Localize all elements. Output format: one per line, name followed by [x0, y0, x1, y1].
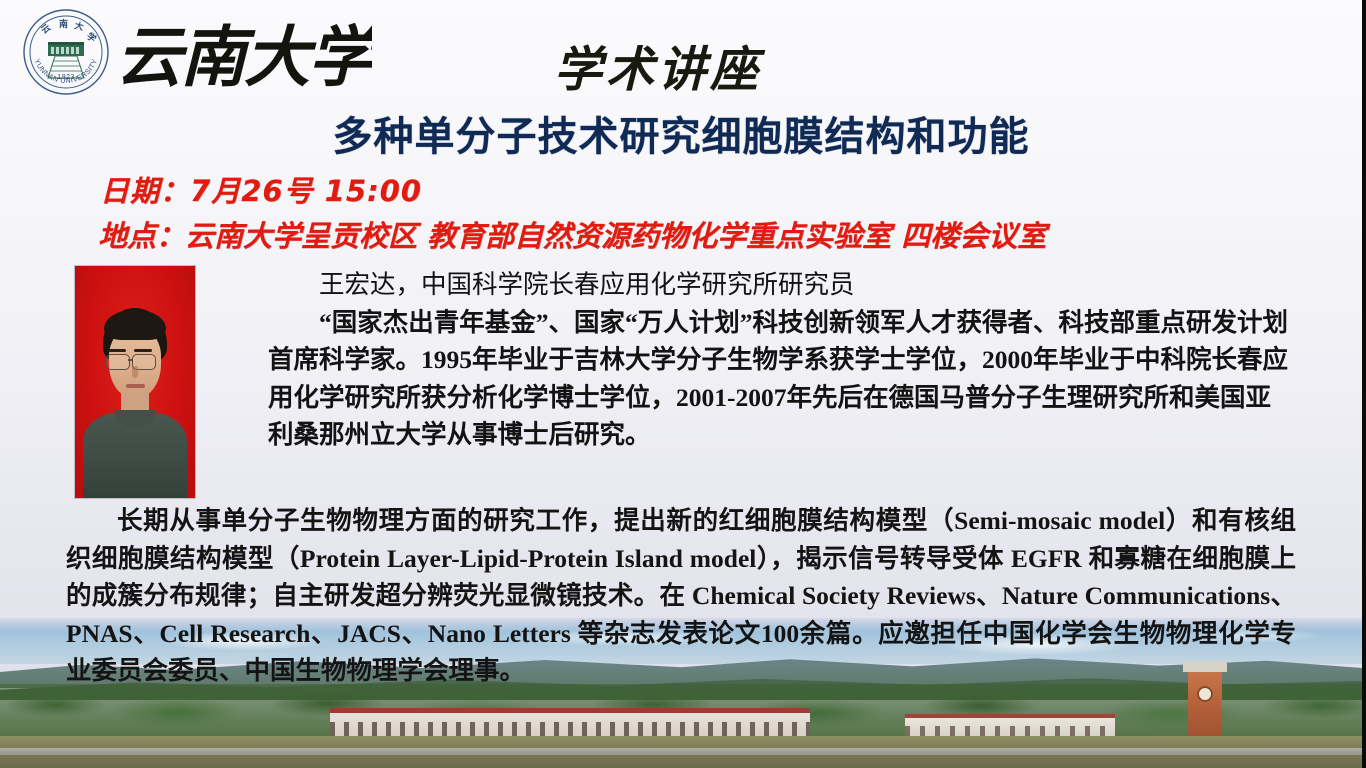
photo-nose	[132, 366, 138, 378]
photo-eyebrow-left	[108, 349, 126, 352]
event-place-value: 云南大学呈贡校区 教育部自然资源药物化学重点实验室 四楼会议室	[185, 219, 1046, 253]
page-title: 多种单分子技术研究细胞膜结构和功能	[0, 104, 1362, 162]
event-place-line: 地点：云南大学呈贡校区 教育部自然资源药物化学重点实验室 四楼会议室	[98, 213, 1046, 255]
university-name-calligraphy: 云南大学	[112, 6, 372, 102]
photo-glasses-left	[106, 354, 130, 370]
svg-text:云: 云	[39, 22, 52, 35]
svg-text:南: 南	[59, 18, 68, 29]
research-summary-text: 长期从事单分子生物物理方面的研究工作，提出新的红细胞膜结构模型（Semi-mos…	[66, 502, 1296, 690]
speaker-photo	[74, 265, 196, 499]
photo-fringe	[104, 310, 166, 340]
svg-text:学: 学	[85, 30, 99, 44]
photo-eyebrow-right	[134, 349, 152, 352]
svg-text:大: 大	[74, 19, 85, 32]
speaker-name-affiliation: 王宏达，中国科学院长春应用化学研究所研究员	[268, 266, 1294, 304]
event-date-label: 日期：	[100, 174, 190, 208]
speaker-bio-block: 王宏达，中国科学院长春应用化学研究所研究员 “国家杰出青年基金”、国家“万人计划…	[268, 266, 1294, 454]
event-place-label: 地点：	[98, 219, 185, 253]
event-date-value: 7月26号 15:00	[190, 174, 422, 208]
speaker-bio-paragraph: “国家杰出青年基金”、国家“万人计划”科技创新领军人才获得者、科技部重点研发计划…	[268, 304, 1294, 454]
photo-mouth	[126, 384, 145, 388]
photo-glasses-bridge	[128, 359, 133, 361]
research-summary-block: 长期从事单分子生物物理方面的研究工作，提出新的红细胞膜结构模型（Semi-mos…	[66, 502, 1296, 690]
lecture-banner-text: 学术讲座	[554, 44, 766, 97]
lecture-poster: 云 南 大 学 1923 YUNNAN UNIVERSITY 云南大学 学术讲座	[0, 0, 1366, 768]
event-date-line: 日期：7月26号 15:00	[100, 168, 422, 210]
university-name-text: 云南大学	[116, 22, 372, 95]
poster-header: 云 南 大 学 1923 YUNNAN UNIVERSITY 云南大学 学术讲座	[0, 0, 1362, 108]
panorama-road	[0, 748, 1362, 755]
yunnan-university-seal-icon: 云 南 大 学 1923 YUNNAN UNIVERSITY	[22, 8, 110, 96]
lecture-banner-calligraphy: 学术讲座	[548, 30, 868, 104]
